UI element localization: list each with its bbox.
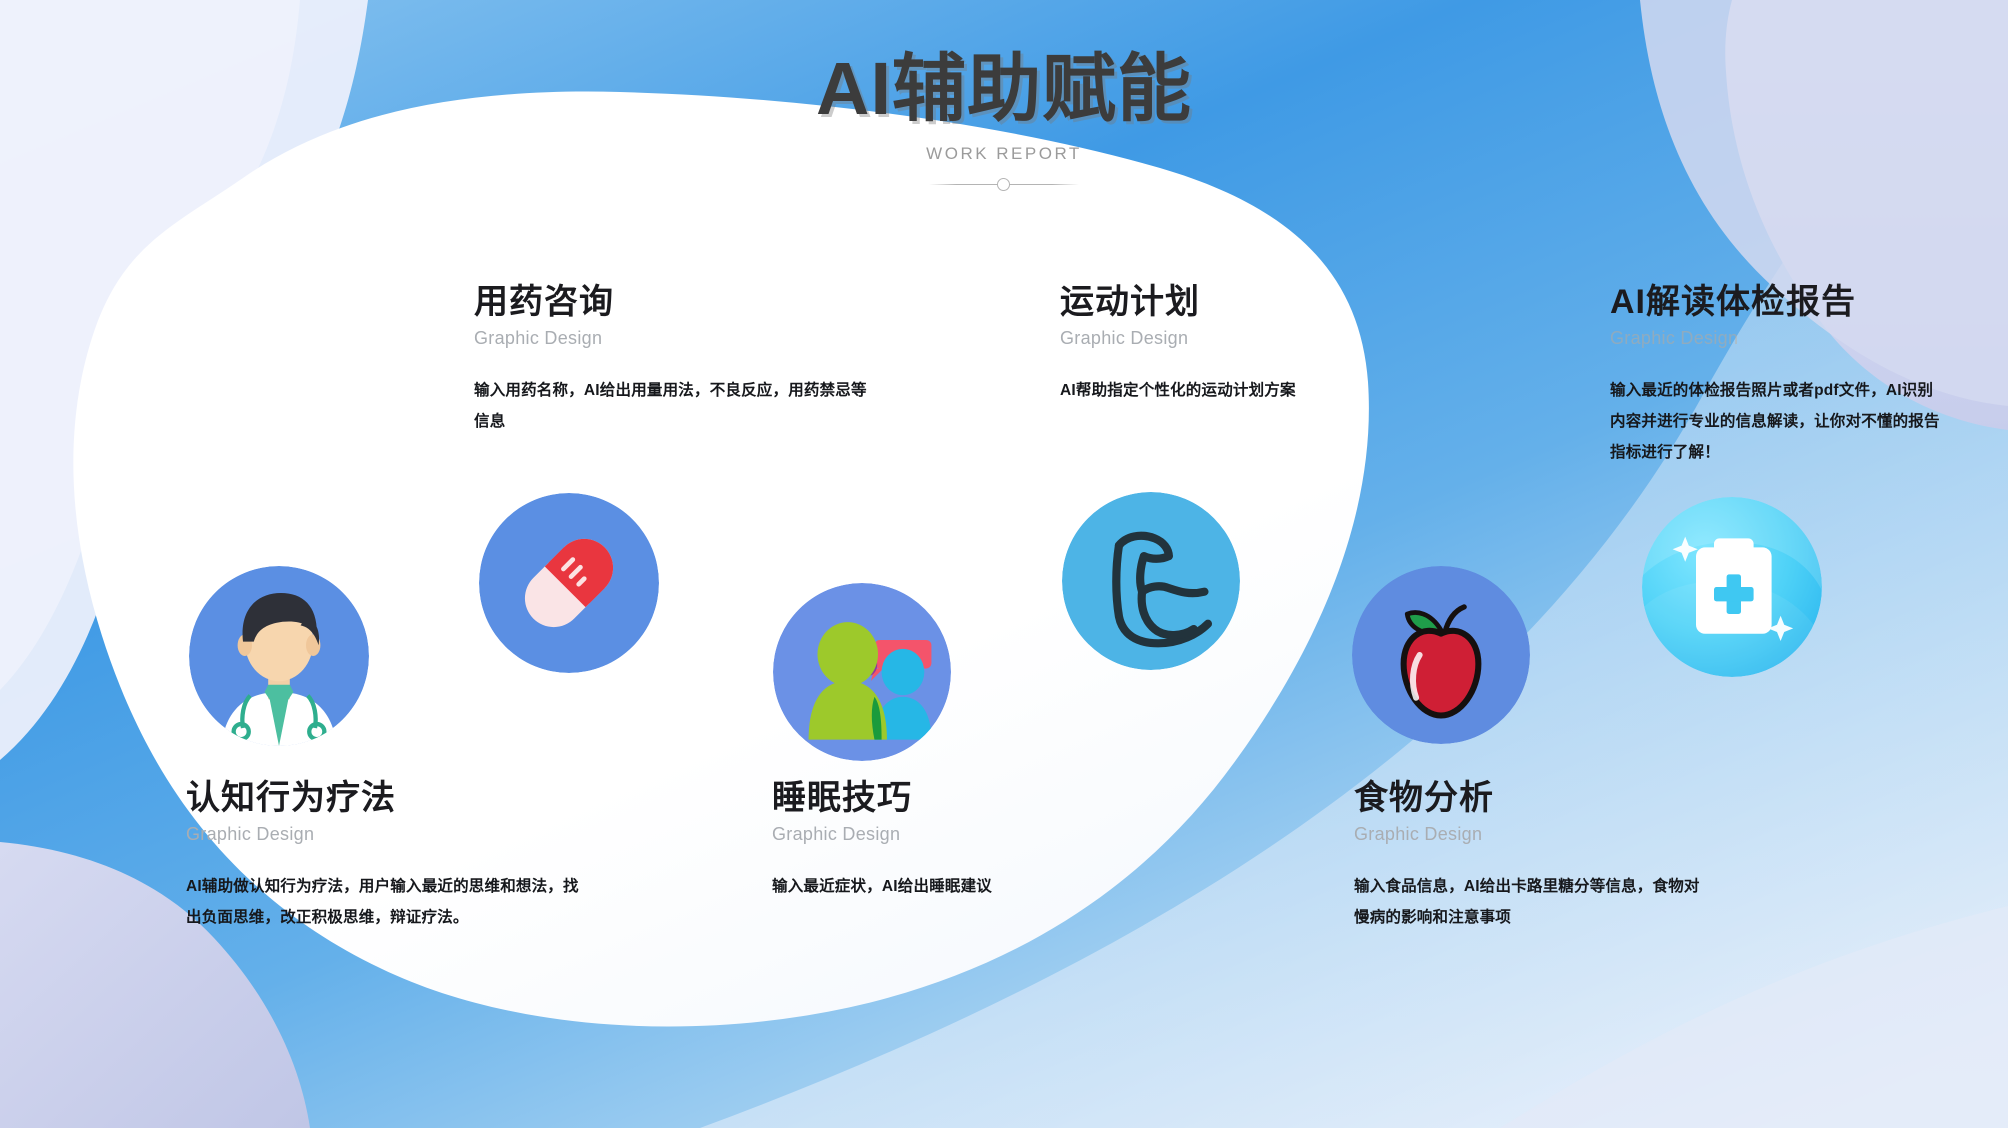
item-heading: AI解读体检报告 (1610, 283, 1940, 322)
item-description: 输入用药名称，AI给出用量用法，不良反应，用药禁忌等信息 (474, 375, 874, 437)
page-title: AI辅助赋能 (0, 50, 2008, 128)
item-subheading: Graphic Design (474, 328, 874, 349)
slide-header: AI辅助赋能 WORK REPORT (0, 50, 2008, 192)
item-sleep-tips: 睡眠技巧 Graphic Design 输入最近症状，AI给出睡眠建议 (772, 779, 1112, 902)
item-medication: 用药咨询 Graphic Design 输入用药名称，AI给出用量用法，不良反应… (474, 283, 874, 437)
item-heading: 认知行为疗法 (186, 779, 586, 818)
medical-clipboard-icon[interactable] (1642, 497, 1822, 677)
item-subheading: Graphic Design (1610, 328, 1940, 349)
item-cbt: 认知行为疗法 Graphic Design AI辅助做认知行为疗法，用户输入最近… (186, 779, 586, 933)
item-description: AI辅助做认知行为疗法，用户输入最近的思维和想法，找出负面思维，改正积极思维，辩… (186, 871, 586, 933)
item-description: AI帮助指定个性化的运动计划方案 (1060, 375, 1400, 406)
item-subheading: Graphic Design (186, 824, 586, 845)
item-heading: 运动计划 (1060, 283, 1400, 322)
item-description: 输入最近的体检报告照片或者pdf文件，AI识别内容并进行专业的信息解读，让你对不… (1610, 375, 1940, 468)
two-people-chat-icon[interactable] (773, 583, 951, 761)
header-divider (929, 178, 1079, 192)
item-subheading: Graphic Design (1354, 824, 1714, 845)
item-description: 输入最近症状，AI给出睡眠建议 (772, 871, 1112, 902)
item-description: 输入食品信息，AI给出卡路里糖分等信息，食物对慢病的影响和注意事项 (1354, 871, 1714, 933)
divider-dot (997, 178, 1010, 191)
muscle-arm-icon[interactable] (1062, 492, 1240, 670)
item-heading: 食物分析 (1354, 779, 1714, 818)
item-subheading: Graphic Design (772, 824, 1112, 845)
item-exercise-plan: 运动计划 Graphic Design AI帮助指定个性化的运动计划方案 (1060, 283, 1400, 406)
page-subtitle: WORK REPORT (0, 144, 2008, 164)
pill-icon[interactable] (479, 493, 659, 673)
item-subheading: Graphic Design (1060, 328, 1400, 349)
doctor-avatar-icon[interactable] (189, 566, 369, 746)
item-heading: 睡眠技巧 (772, 779, 1112, 818)
item-heading: 用药咨询 (474, 283, 874, 322)
apple-icon[interactable] (1352, 566, 1530, 744)
item-report-reading: AI解读体检报告 Graphic Design 输入最近的体检报告照片或者pdf… (1610, 283, 1940, 468)
item-food-analysis: 食物分析 Graphic Design 输入食品信息，AI给出卡路里糖分等信息，… (1354, 779, 1714, 933)
